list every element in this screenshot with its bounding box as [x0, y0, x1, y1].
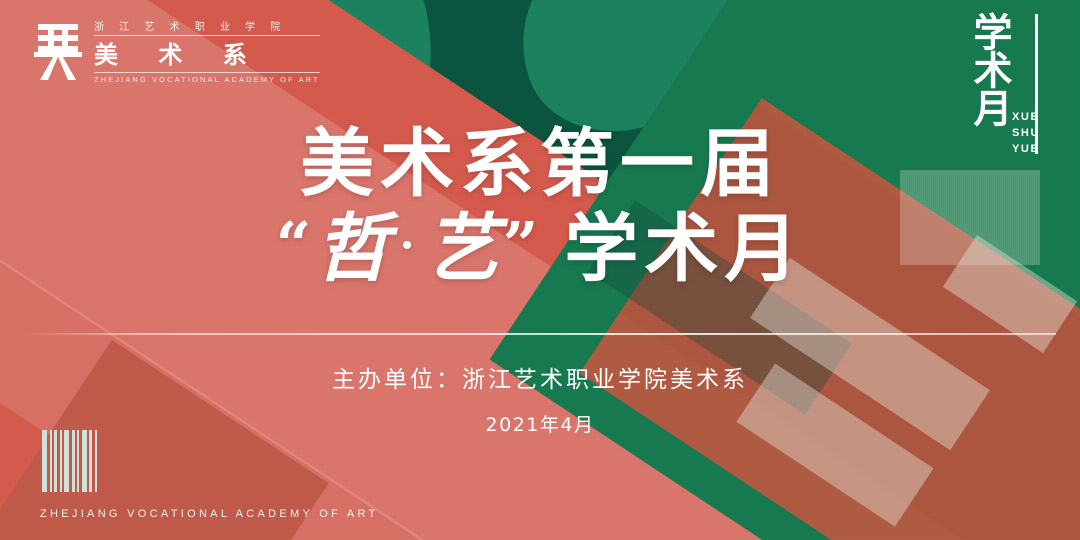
horizontal-divider	[24, 333, 1056, 335]
academic-month-badge: 学术月 XUE SHU YUE	[936, 0, 1056, 168]
badge-pinyin-line: YUE	[1012, 142, 1040, 158]
logo-department-cn: 美 术 系	[94, 36, 320, 71]
footer-logo: ZHEJIANG VOCATIONAL ACADEMY OF ART	[40, 430, 379, 520]
logo-academy-cn: 浙 江 艺 术 职 业 学 院	[94, 18, 320, 36]
mei-character-mark-icon	[34, 20, 82, 82]
main-title: 美术系第一届 “哲·艺”学术月	[0, 126, 1080, 291]
poster-canvas: 浙 江 艺 术 职 业 学 院 美 术 系 ZHEJIANG VOCATIONA…	[0, 0, 1080, 540]
badge-vertical-title: 学术月	[956, 12, 1008, 126]
logo-academy-en: ZHEJIANG VOCATIONAL ACADEMY OF ART	[94, 72, 320, 84]
subtitle-host: 主办单位：浙江艺术职业学院美术系	[0, 360, 1080, 394]
badge-pinyin-line: SHU	[1012, 126, 1040, 142]
badge-pinyin-line: XUE	[1012, 110, 1040, 126]
badge-pinyin: XUE SHU YUE	[1012, 110, 1040, 158]
title-line-1: 美术系第一届	[0, 126, 1080, 204]
barcode-stripes-icon	[42, 430, 379, 492]
subtitle-block: 主办单位：浙江艺术职业学院美术系 2021年4月	[0, 360, 1080, 437]
title-tail: 学术月	[542, 206, 804, 292]
title-separator-dot: ·	[393, 220, 424, 271]
title-line-2: “哲·艺”学术月	[0, 208, 1080, 291]
title-char-yi: 艺	[425, 206, 503, 292]
title-char-zhe: 哲	[315, 206, 393, 292]
quote-open: “	[276, 208, 316, 281]
logo-text-block: 浙 江 艺 术 职 业 学 院 美 术 系 ZHEJIANG VOCATIONA…	[94, 18, 320, 84]
footer-academy-en: ZHEJIANG VOCATIONAL ACADEMY OF ART	[40, 508, 379, 520]
quote-close: ”	[503, 208, 543, 281]
academy-logo: 浙 江 艺 术 职 业 学 院 美 术 系 ZHEJIANG VOCATIONA…	[34, 18, 320, 84]
